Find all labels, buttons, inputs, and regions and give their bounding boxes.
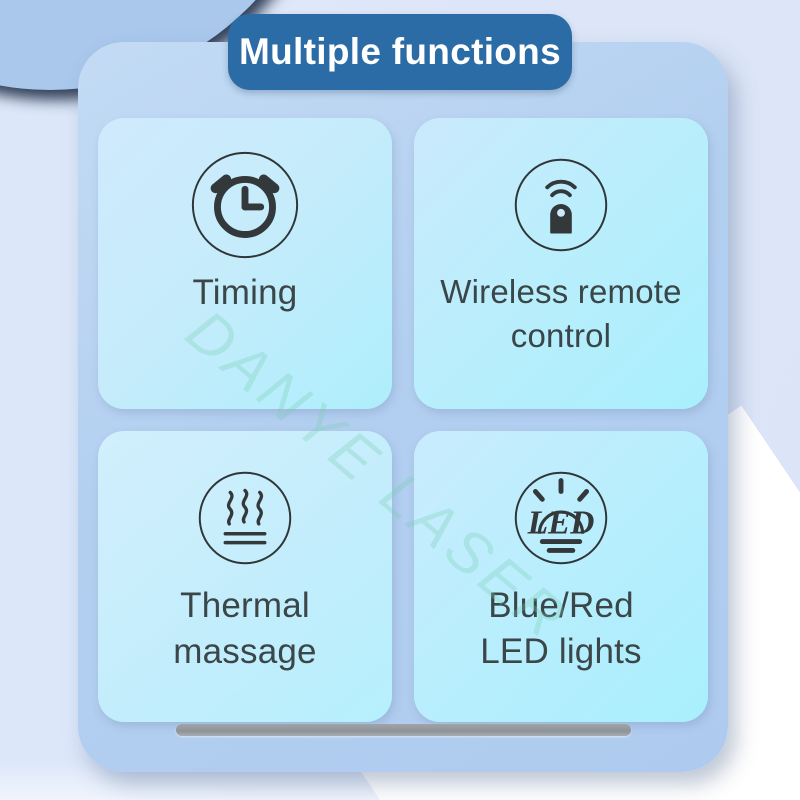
alarm-clock-icon <box>186 146 304 264</box>
feature-card-timing[interactable]: Timing <box>98 118 392 409</box>
led-icon-text: LED <box>527 505 595 542</box>
feature-card-thermal-massage[interactable]: Thermal massage <box>98 431 392 722</box>
feature-card-label: Wireless remote control <box>428 270 693 357</box>
feature-card-grid: Timing Wireless remote control <box>98 118 708 722</box>
promo-graphic: Timing Wireless remote control <box>0 0 800 800</box>
panel-slider-indicator[interactable] <box>176 724 631 736</box>
page-title: Multiple functions <box>239 31 561 73</box>
wireless-remote-icon <box>502 146 620 264</box>
feature-card-label: Timing <box>181 270 310 316</box>
feature-panel: Timing Wireless remote control <box>78 42 728 772</box>
feature-card-wireless-remote[interactable]: Wireless remote control <box>414 118 708 409</box>
feature-card-label: Thermal massage <box>161 583 328 675</box>
header-banner: Multiple functions <box>228 14 572 90</box>
led-bulb-icon: LED <box>502 459 620 577</box>
feature-card-led-lights[interactable]: LED Blue/Red LED lights <box>414 431 708 722</box>
feature-card-label: Blue/Red LED lights <box>468 583 654 675</box>
heat-waves-icon <box>186 459 304 577</box>
